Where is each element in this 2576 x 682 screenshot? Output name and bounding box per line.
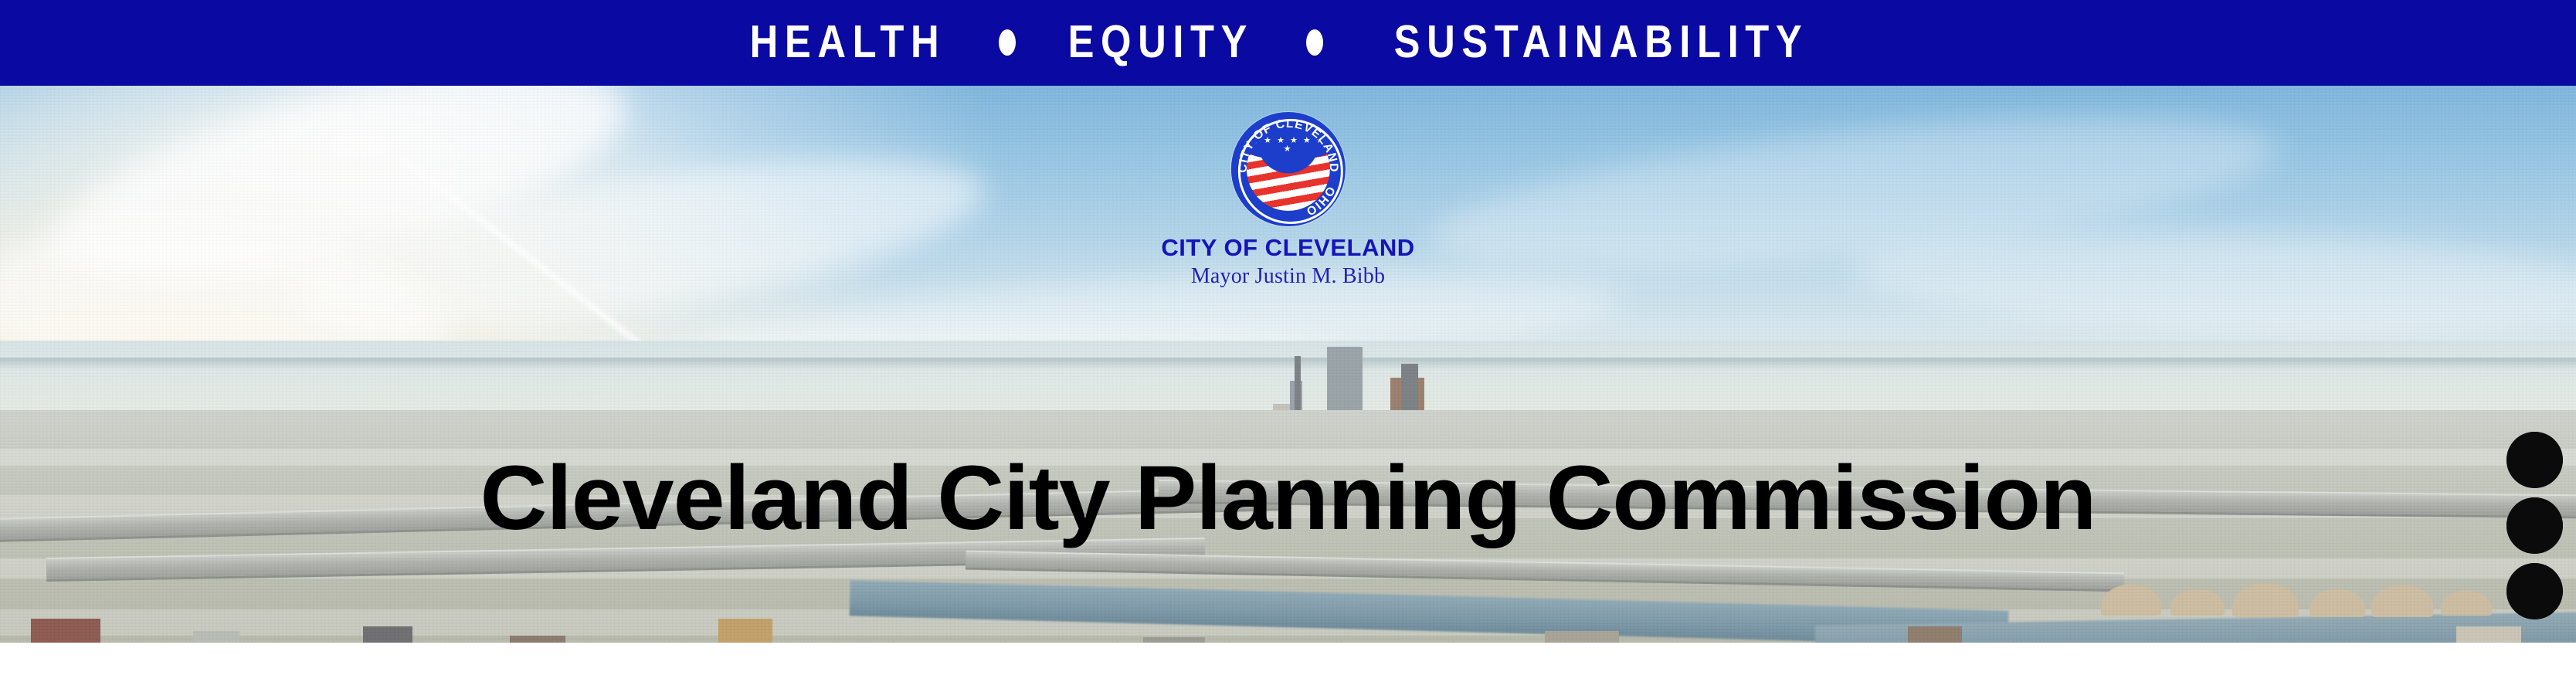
page-root: HEALTH EQUITY SUSTAINABILITY (0, 0, 2576, 682)
city-branding: CITY OF CLEVELAND OHIO ★ ★ ★ ★ ★ ★ ★ CIT… (1161, 112, 1414, 287)
building (1143, 637, 1205, 643)
social-links (2506, 432, 2563, 619)
building (1908, 626, 1962, 643)
tagline-dot-1 (999, 29, 1016, 56)
seal-inner-disc: ★ ★ ★ ★ ★ ★ ★ (1247, 127, 1330, 211)
facebook-icon[interactable] (2506, 563, 2563, 619)
tagline-word-equity: EQUITY (1068, 19, 1254, 65)
footer-whitespace (0, 643, 2576, 682)
seal-stars: ★ ★ ★ ★ ★ ★ ★ (1247, 137, 1330, 154)
building (718, 619, 772, 643)
city-wordmark: CITY OF CLEVELAND (1161, 236, 1414, 261)
youtube-icon[interactable] (2506, 432, 2563, 488)
tagline-banner: HEALTH EQUITY SUSTAINABILITY (0, 0, 2576, 86)
building (2456, 626, 2521, 643)
building (193, 631, 239, 643)
building (510, 636, 565, 643)
building (31, 619, 100, 643)
page-title: Cleveland City Planning Commission (0, 453, 2576, 544)
mayor-wordmark: Mayor Justin M. Bibb (1161, 265, 1414, 287)
building (363, 626, 412, 643)
city-of-cleveland-seal-icon: CITY OF CLEVELAND OHIO ★ ★ ★ ★ ★ ★ ★ (1231, 112, 1346, 226)
tagline-inner: HEALTH EQUITY SUSTAINABILITY (734, 19, 1842, 65)
instagram-icon[interactable] (2506, 497, 2563, 554)
tagline-word-sustainability: SUSTAINABILITY (1393, 19, 1808, 65)
tagline-dot-2 (1306, 29, 1323, 56)
tagline-word-health: HEALTH (750, 19, 946, 65)
building (1545, 631, 1619, 643)
